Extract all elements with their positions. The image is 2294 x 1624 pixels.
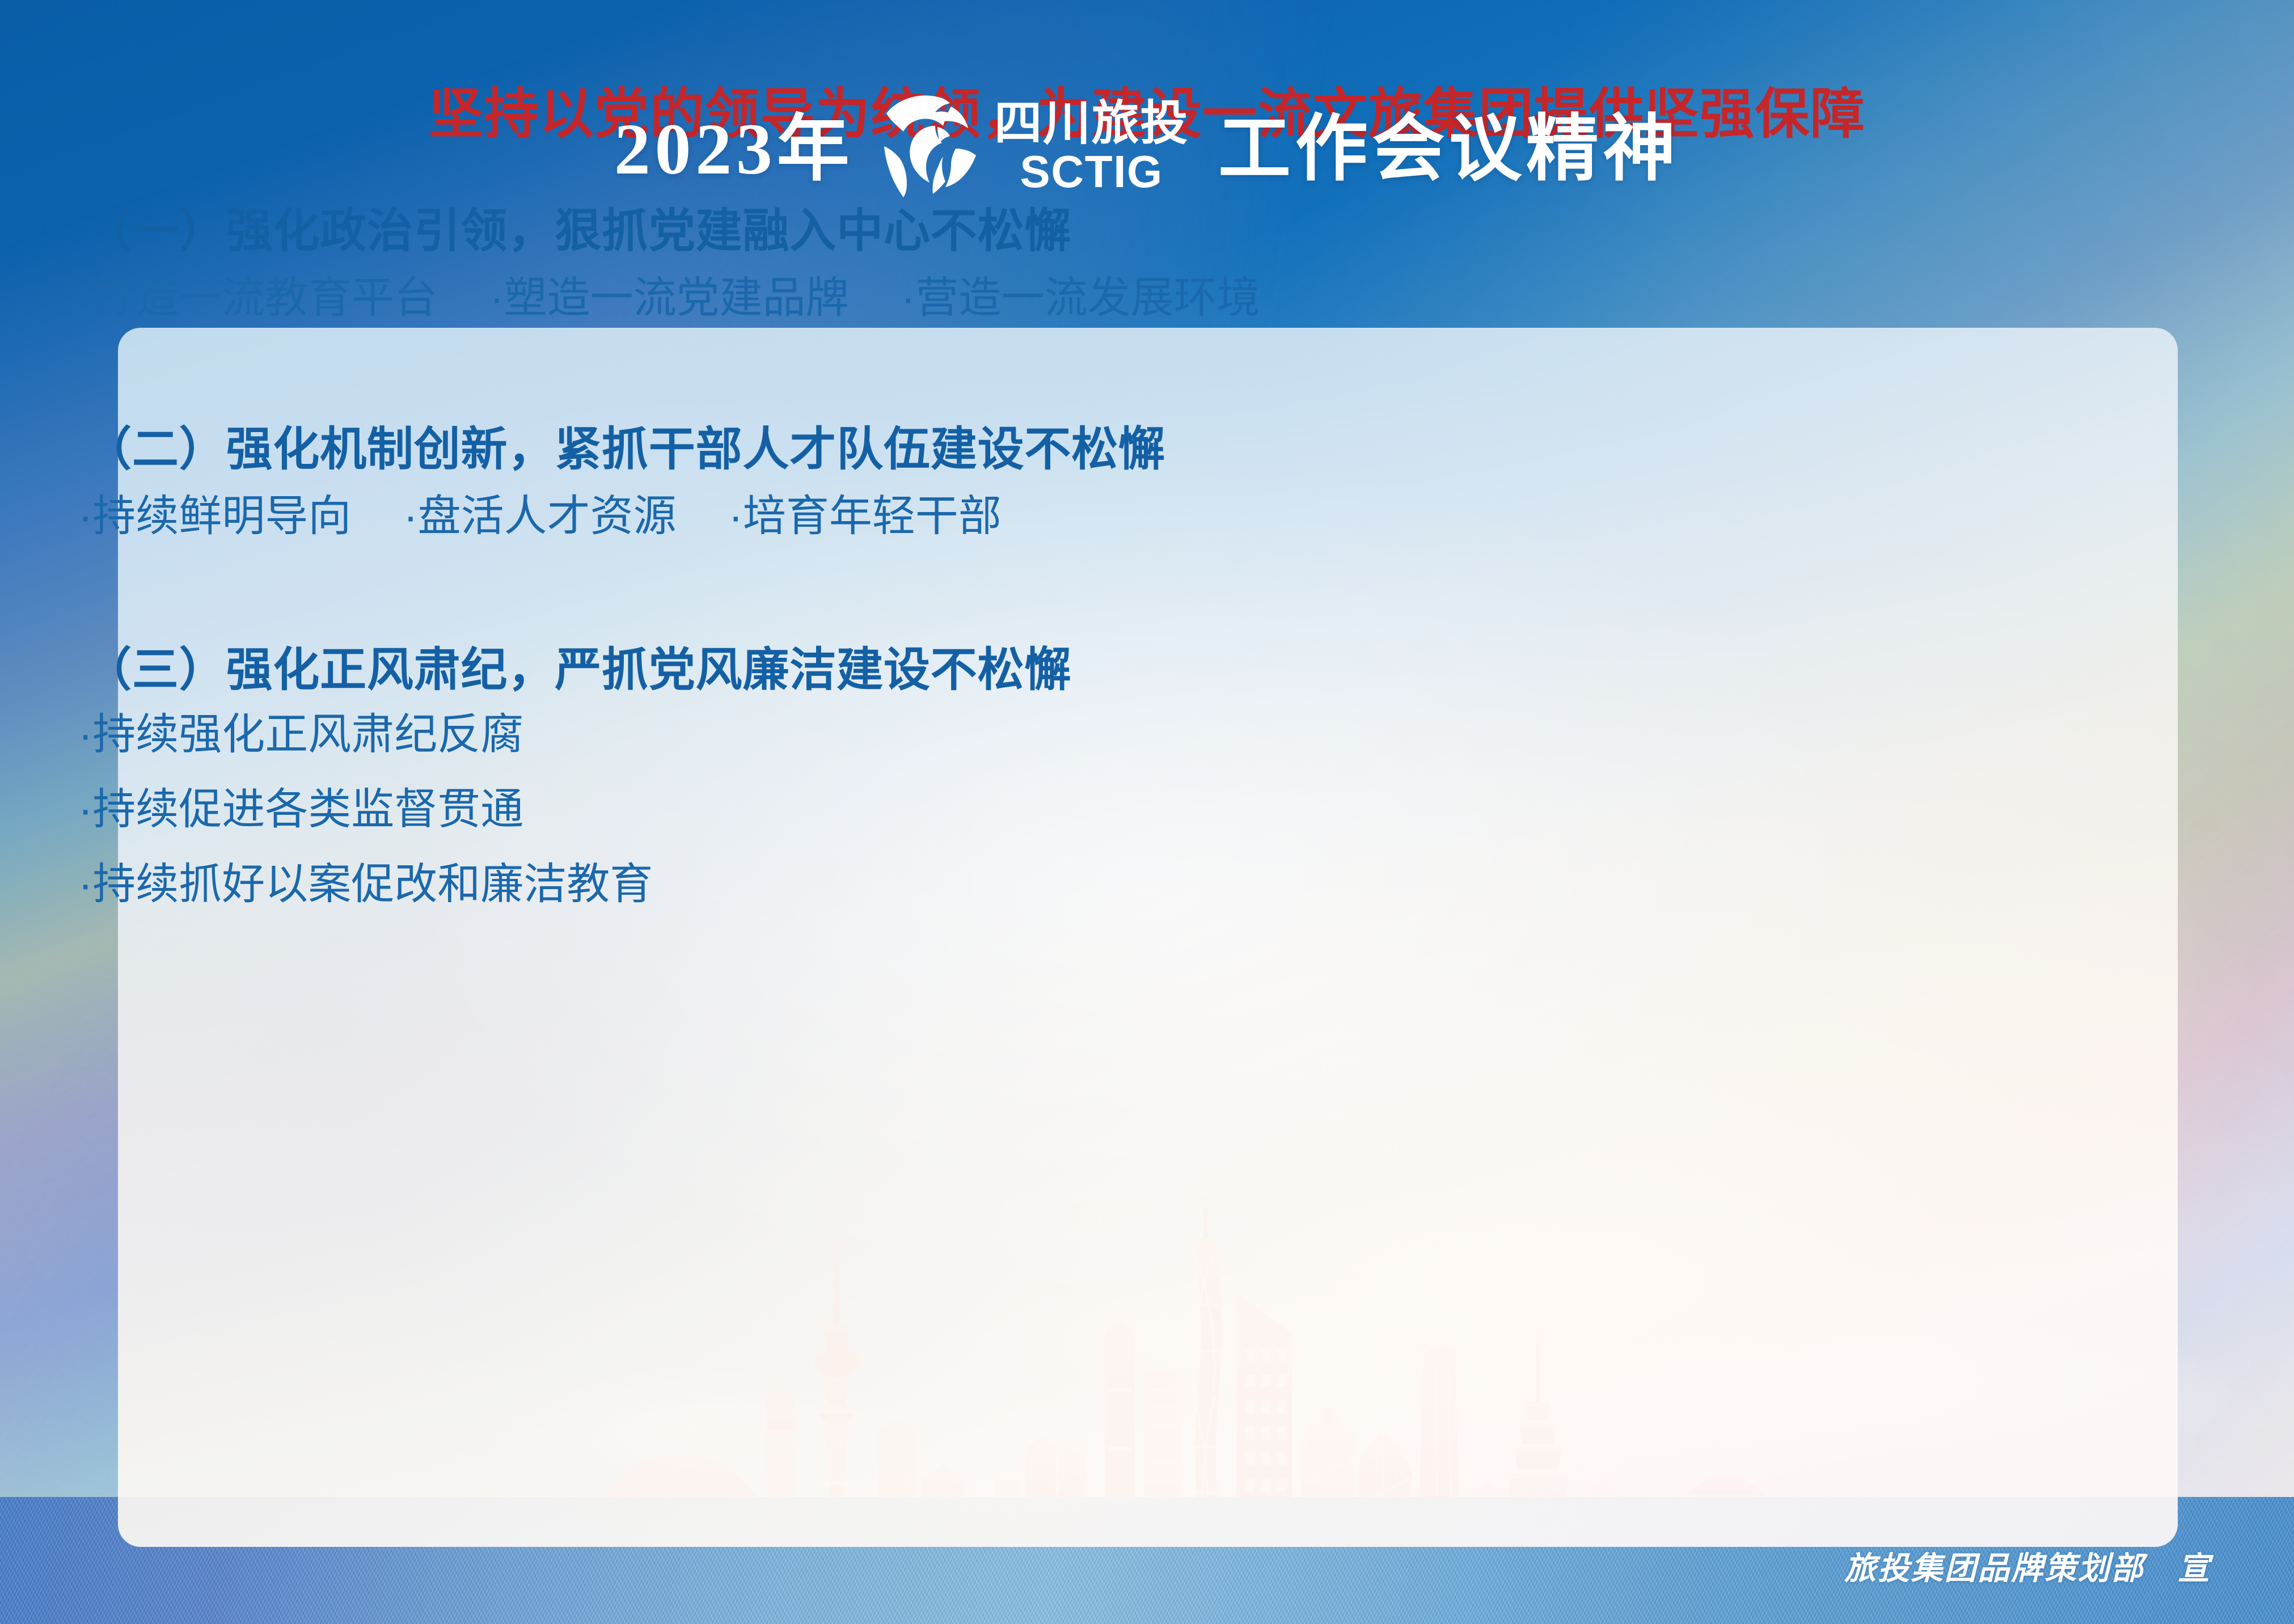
- bullet-item: ·盘活人才资源: [403, 490, 676, 542]
- section-three: （三）强化正风肃纪，严抓党风廉洁建设不松懈 ·持续强化正风肃纪反腐 ·持续促进各…: [68, 644, 2226, 906]
- bullet-item: ·打造一流教育平台: [78, 272, 437, 324]
- section-two-title: （二）强化机制创新，紧抓干部人才队伍建设不松懈: [68, 424, 2226, 476]
- header-suffix-label: 工作会议精神: [1218, 113, 1680, 185]
- brand-logo-lockup: 四川旅投 SCTIG: [883, 94, 1189, 199]
- brand-name-en: SCTIG: [994, 149, 1189, 194]
- section-one-title: （一）强化政治引领，狠抓党建融入中心不松懈: [68, 205, 2226, 257]
- bullet-item: ·持续抓好以案促改和廉洁教育: [78, 863, 2226, 906]
- bullet-item: ·营造一流发展环境: [901, 272, 1260, 324]
- section-one-bullets: ·打造一流教育平台 ·塑造一流党建品牌 ·营造一流发展环境: [68, 272, 2226, 324]
- bullet-item: ·塑造一流党建品牌: [489, 272, 848, 324]
- section-one: （一）强化政治引领，狠抓党建融入中心不松懈 ·打造一流教育平台 ·塑造一流党建品…: [68, 205, 2226, 324]
- sctig-panda-globe-logo-icon: [883, 94, 979, 199]
- section-three-bullets: ·持续强化正风肃纪反腐 ·持续促进各类监督贯通 ·持续抓好以案促改和廉洁教育: [68, 713, 2226, 906]
- poster-canvas: 2023年 四川旅投 SCTIG 工作会议精神 坚持以党的领导为统领，为建设: [0, 0, 2294, 1624]
- brand-name-cn: 四川旅投: [994, 99, 1189, 147]
- section-two-bullets: ·持续鲜明导向 ·盘活人才资源 ·培育年轻干部: [68, 490, 2226, 542]
- poster-header: 2023年 四川旅投 SCTIG 工作会议精神: [0, 96, 2294, 201]
- header-year-label: 2023年: [614, 113, 854, 185]
- bullet-item: ·持续鲜明导向: [78, 490, 351, 542]
- brand-logo-words: 四川旅投 SCTIG: [994, 99, 1189, 194]
- bullet-item: ·持续强化正风肃纪反腐: [78, 713, 2226, 756]
- section-two: （二）强化机制创新，紧抓干部人才队伍建设不松懈 ·持续鲜明导向 ·盘活人才资源 …: [68, 424, 2226, 542]
- section-three-title: （三）强化正风肃纪，严抓党风廉洁建设不松懈: [68, 644, 2226, 696]
- footer-credit: 旅投集团品牌策划部 宣: [1844, 1543, 2211, 1589]
- bullet-item: ·持续促进各类监督贯通: [78, 788, 2226, 831]
- bullet-item: ·培育年轻干部: [729, 490, 1002, 542]
